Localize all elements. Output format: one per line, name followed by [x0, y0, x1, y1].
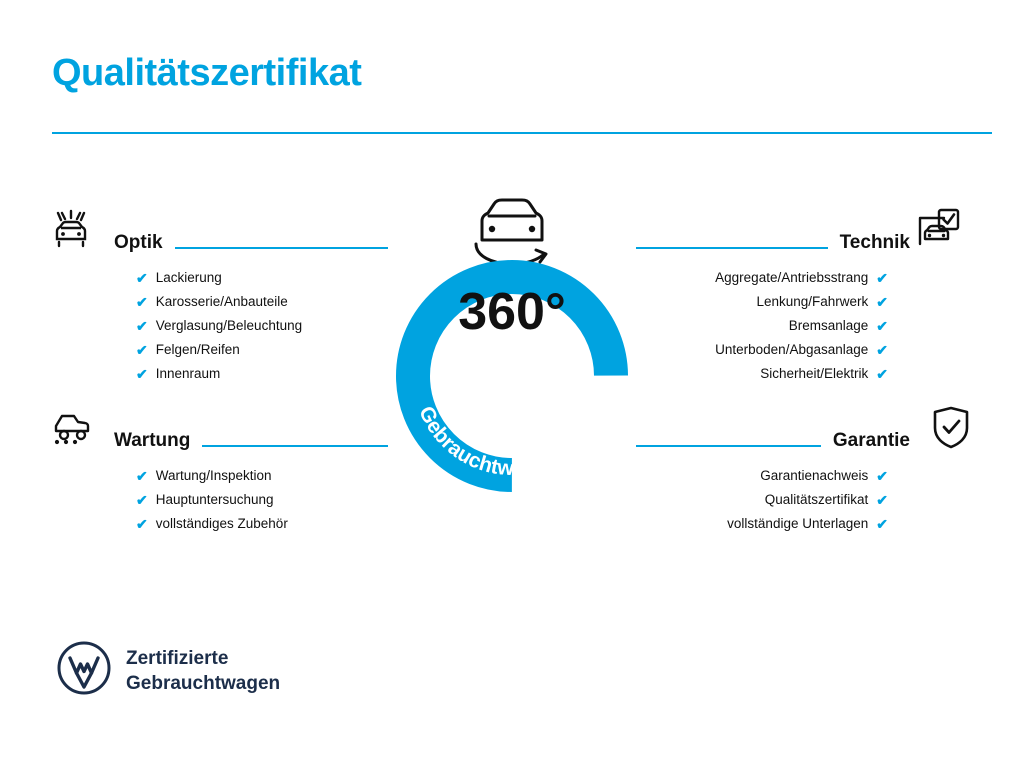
car-check-icon	[914, 206, 972, 256]
list-item-label: Felgen/Reifen	[156, 338, 240, 362]
title-divider	[52, 132, 992, 134]
checklist-garantie: Garantienachweis✔ Qualitätszertifikat✔ v…	[636, 464, 972, 536]
check-icon: ✔	[136, 488, 148, 512]
list-item-label: Karosserie/Anbauteile	[156, 290, 288, 314]
list-item: ✔Karosserie/Anbauteile	[136, 290, 388, 314]
list-item-label: Garantienachweis	[760, 464, 868, 488]
list-item-label: Sicherheit/Elektrik	[760, 362, 868, 386]
section-wartung: Wartung ✔Wartung/Inspektion ✔Hauptunters…	[52, 410, 388, 552]
badge-value: 360°	[370, 282, 654, 342]
check-icon: ✔	[136, 266, 148, 290]
car-wash-icon	[52, 206, 110, 256]
check-icon: ✔	[876, 488, 888, 512]
check-icon: ✔	[136, 512, 148, 536]
list-item: Aggregate/Antriebsstrang✔	[636, 266, 888, 290]
list-item-label: Wartung/Inspektion	[156, 464, 272, 488]
section-optik: Optik ✔Lackierung ✔Karosserie/Anbauteile…	[52, 212, 388, 402]
footer-brand: Zertifizierte Gebrauchtwagen	[56, 640, 280, 701]
check-icon: ✔	[136, 464, 148, 488]
check-icon: ✔	[876, 266, 888, 290]
list-item-label: Qualitätszertifikat	[765, 488, 869, 512]
check-icon: ✔	[876, 464, 888, 488]
list-item: ✔vollständiges Zubehör	[136, 512, 388, 536]
section-title-wartung: Wartung	[114, 430, 190, 454]
section-title-optik: Optik	[114, 232, 163, 256]
list-item: Qualitätszertifikat✔	[636, 488, 888, 512]
list-item: Unterboden/Abgasanlage✔	[636, 338, 888, 362]
list-item-label: vollständige Unterlagen	[727, 512, 868, 536]
list-item: ✔Felgen/Reifen	[136, 338, 388, 362]
section-header-optik: Optik	[52, 212, 388, 256]
check-icon: ✔	[136, 338, 148, 362]
list-item: Bremsanlage✔	[636, 314, 888, 338]
list-item: ✔Wartung/Inspektion	[136, 464, 388, 488]
check-icon: ✔	[876, 314, 888, 338]
badge-360-check: Gebrauchtwagen-Check 360°	[370, 196, 654, 492]
list-item-label: Aggregate/Antriebsstrang	[715, 266, 868, 290]
list-item-label: Lackierung	[156, 266, 222, 290]
check-icon: ✔	[876, 290, 888, 314]
list-item: Garantienachweis✔	[636, 464, 888, 488]
list-item: ✔Innenraum	[136, 362, 388, 386]
list-item-label: vollständiges Zubehör	[156, 512, 288, 536]
list-item-label: Lenkung/Fahrwerk	[756, 290, 868, 314]
car-lift-icon	[52, 404, 110, 454]
brand-text: Zertifizierte Gebrauchtwagen	[126, 646, 280, 696]
list-item-label: Verglasung/Beleuchtung	[156, 314, 302, 338]
list-item: Lenkung/Fahrwerk✔	[636, 290, 888, 314]
section-rule-garantie	[636, 445, 821, 447]
section-header-wartung: Wartung	[52, 410, 388, 454]
list-item-label: Hauptuntersuchung	[156, 488, 274, 512]
shield-check-icon	[914, 404, 972, 454]
checklist-optik: ✔Lackierung ✔Karosserie/Anbauteile ✔Verg…	[52, 266, 388, 386]
brand-line-1: Zertifizierte	[126, 646, 280, 671]
section-header-garantie: Garantie	[636, 410, 972, 454]
section-rule-optik	[175, 247, 388, 249]
checklist-wartung: ✔Wartung/Inspektion ✔Hauptuntersuchung ✔…	[52, 464, 388, 536]
section-title-garantie: Garantie	[833, 430, 910, 454]
section-technik: Technik Aggregate/Antriebsstrang✔ Lenkun…	[636, 212, 972, 402]
page-title: Qualitätszertifikat	[52, 52, 361, 95]
check-icon: ✔	[876, 362, 888, 386]
check-icon: ✔	[876, 512, 888, 536]
list-item-label: Bremsanlage	[789, 314, 869, 338]
section-garantie: Garantie Garantienachweis✔ Qualitätszert…	[636, 410, 972, 552]
list-item: Sicherheit/Elektrik✔	[636, 362, 888, 386]
checklist-technik: Aggregate/Antriebsstrang✔ Lenkung/Fahrwe…	[636, 266, 972, 386]
list-item: ✔Lackierung	[136, 266, 388, 290]
list-item: vollständige Unterlagen✔	[636, 512, 888, 536]
brand-line-2: Gebrauchtwagen	[126, 671, 280, 696]
section-header-technik: Technik	[636, 212, 972, 256]
section-title-technik: Technik	[840, 232, 910, 256]
list-item: ✔Hauptuntersuchung	[136, 488, 388, 512]
list-item-label: Innenraum	[156, 362, 221, 386]
list-item-label: Unterboden/Abgasanlage	[715, 338, 868, 362]
vw-logo	[56, 640, 112, 701]
list-item: ✔Verglasung/Beleuchtung	[136, 314, 388, 338]
section-rule-wartung	[202, 445, 388, 447]
section-rule-technik	[636, 247, 828, 249]
check-icon: ✔	[136, 362, 148, 386]
check-icon: ✔	[136, 290, 148, 314]
check-icon: ✔	[876, 338, 888, 362]
check-icon: ✔	[136, 314, 148, 338]
